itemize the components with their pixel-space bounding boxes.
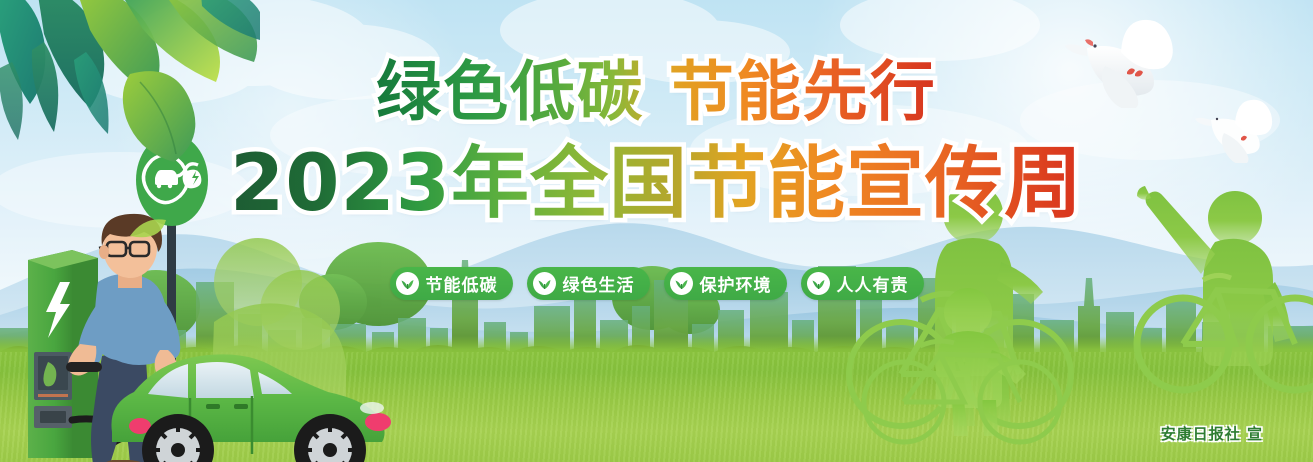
floating-leaf-icon <box>128 218 168 242</box>
head-light <box>365 413 391 431</box>
leaf-sprout-icon <box>396 272 419 295</box>
slogan-pill-row: 节能低碳 绿色生活 保护环境 人人有责 <box>0 267 1313 300</box>
leaf-sprout-icon <box>807 272 830 295</box>
slogan-pill-4-label: 人人有责 <box>837 271 909 296</box>
slogan-pill-4[interactable]: 人人有责 <box>801 267 924 300</box>
dove-large <box>1065 18 1215 108</box>
slogan-pill-1-label: 节能低碳 <box>426 271 498 296</box>
slogan-pill-1[interactable]: 节能低碳 <box>390 267 513 300</box>
slogan-pill-3-label: 保护环境 <box>700 271 772 296</box>
leaf-sprout-icon <box>533 272 556 295</box>
decorative-leaves <box>0 0 260 172</box>
dove-small <box>1195 98 1300 163</box>
slogan-pill-2[interactable]: 绿色生活 <box>527 267 650 300</box>
poster-canvas: 绿色低碳 节能先行 绿色低碳 节能先行 2023年全国节能宣传周 2023年全国… <box>0 0 1313 462</box>
charging-nozzle <box>66 362 102 372</box>
leaf-sprout-icon <box>670 272 693 295</box>
slogan-pill-3[interactable]: 保护环境 <box>664 267 787 300</box>
slogan-pill-2-label: 绿色生活 <box>563 271 635 296</box>
green-electric-car <box>111 354 391 462</box>
publisher-credit: 安康日报社 宣 <box>1161 423 1263 444</box>
